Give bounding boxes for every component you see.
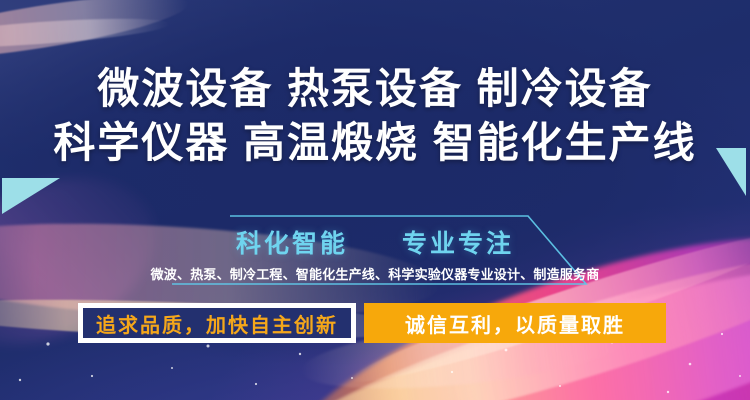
promo-banner: 微波设备 热泵设备 制冷设备 科学仪器 高温煅烧 智能化生产线 科化智能 专业专…	[0, 0, 750, 400]
mid-title-left: 科化智能	[236, 230, 348, 258]
slogan-box-integrity[interactable]: 诚信互利，以质量取胜	[364, 303, 666, 343]
headline: 微波设备 热泵设备 制冷设备 科学仪器 高温煅烧 智能化生产线	[0, 62, 750, 170]
slogan-group: 追求品质，加快自主创新 诚信互利，以质量取胜	[78, 303, 666, 343]
mid-title-right: 专业专注	[402, 230, 514, 258]
mid-subtitle: 微波、热泵、制冷工程、智能化生产线、科学实验仪器专业设计、制造服务商	[0, 264, 750, 283]
triangle-left-icon	[2, 178, 60, 214]
headline-line-1: 微波设备 热泵设备 制冷设备	[0, 62, 750, 116]
mid-title: 科化智能 专业专注	[0, 224, 750, 260]
headline-line-2: 科学仪器 高温煅烧 智能化生产线	[0, 116, 750, 170]
slogan-box-quality[interactable]: 追求品质，加快自主创新	[78, 303, 356, 343]
